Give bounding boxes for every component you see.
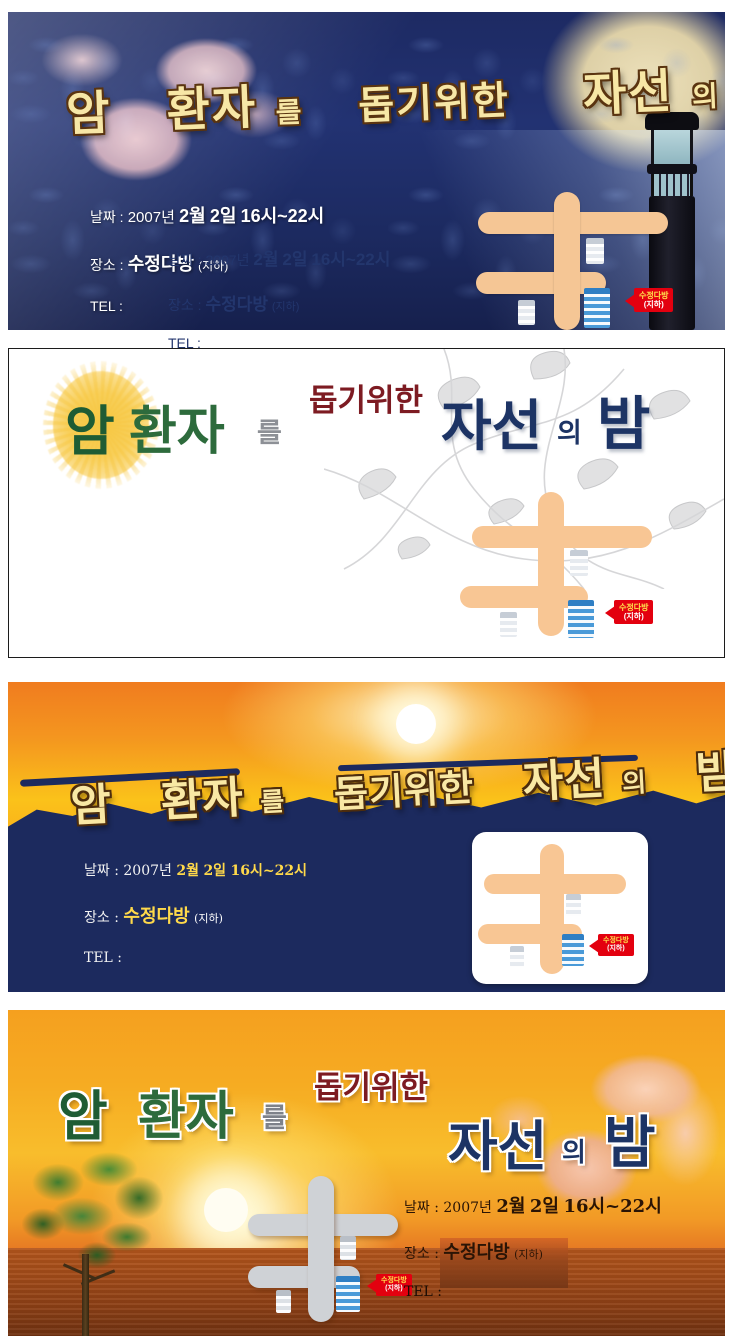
title-word-reul: 를 (262, 1096, 287, 1135)
date-month: 2월 (496, 1196, 525, 1217)
place-label: 장소 : (168, 297, 202, 313)
road-vertical (538, 492, 564, 636)
date-line: 날짜 : 2007년 2월 2일 16시~22시 (168, 245, 390, 270)
title-word-jaseon: 자선 (582, 64, 675, 122)
sun-icon (204, 1188, 248, 1232)
date-line: 날짜 : 2007년 2월 2일 16시~22시 (84, 860, 307, 880)
map-poi-label: 수정다방 (지하) (598, 934, 634, 956)
building-venue (336, 1276, 360, 1312)
date-label: 날짜 : (84, 863, 119, 879)
building-gray-upper (340, 1236, 356, 1260)
banner4-info-block: 날짜 : 2007년 2월 2일 16시~22시 장소 : 수정다방 (지하) … (404, 1192, 662, 1320)
building-gray-upper (570, 550, 588, 576)
title-word-ui: 의 (692, 79, 721, 113)
location-map-1: 수정다방 (지하) (476, 200, 706, 330)
tel-label: TEL : (404, 1284, 442, 1300)
banner-sheet: 암 환자 를 돕기위한 자선 의 밤 날짜 : 2007년 2월 2일 16시~… (0, 0, 733, 1339)
place-sub: (지하) (194, 912, 223, 925)
road-vertical (308, 1176, 334, 1322)
poi-name: 수정다방 (603, 937, 629, 944)
banner3-info-block: 날짜 : 2007년 2월 2일 16시~22시 장소 : 수정다방 (지하) … (84, 860, 307, 988)
date-day: 2일 (203, 863, 226, 879)
date-label: 날짜 : (168, 252, 202, 268)
poi-pointer-icon (589, 939, 599, 953)
place-label: 장소 : (404, 1246, 439, 1262)
road-vertical (540, 844, 564, 974)
title-word-reul: 를 (257, 411, 282, 450)
banner2-title: 암 환자 를 돕기위한 자선 의 밤 (9, 349, 724, 519)
poi-name: 수정다방 (381, 1277, 407, 1284)
tel-line: TEL : (84, 950, 307, 966)
building-venue (568, 600, 594, 638)
place-name: 수정다방 (443, 1242, 509, 1263)
poi-name: 수정다방 (619, 603, 648, 612)
title-word-bam: 밤 (604, 1098, 656, 1179)
title-word-jaseon: 자선 (441, 381, 542, 461)
title-word-hwanja: 환자 (129, 389, 225, 464)
poi-sub: (지하) (639, 300, 668, 309)
poi-sub: (지하) (619, 612, 648, 621)
title-word-bam: 밤 (597, 377, 650, 461)
place-sub: (지하) (514, 1248, 543, 1261)
poi-pointer-icon (625, 294, 635, 308)
building-venue (584, 288, 610, 328)
place-line: 장소 : 수정다방 (지하) (84, 902, 307, 928)
building-gray-upper (566, 894, 581, 916)
location-map-3: 수정다방 (지하) (478, 842, 644, 976)
title-word-dopgiwihan: 돕기위한 (358, 78, 511, 129)
title-word-bam: 밤 (694, 746, 725, 799)
tel-line: TEL : (168, 335, 390, 351)
map-poi-label: 수정다방 (지하) (614, 600, 653, 624)
tel-label: TEL : (168, 335, 201, 351)
title-word-am: 암 (58, 1072, 108, 1151)
date-year: 2007년 (123, 863, 172, 879)
location-map-4: 수정다방 (지하) (248, 1178, 428, 1318)
poi-sub: (지하) (381, 1285, 407, 1293)
date-day: 2일 (530, 1196, 559, 1217)
date-month: 2월 (179, 206, 206, 226)
poi-pointer-icon (367, 1279, 377, 1293)
date-time: 16시~22시 (311, 250, 390, 269)
location-map-2: 수정다방 (지하) (460, 500, 680, 630)
title-word-dopgiwihan: 돕기위한 (314, 1062, 428, 1107)
date-line: 날짜 : 2007년 2월 2일 16시~22시 (90, 202, 324, 228)
title-word-am: 암 (69, 779, 113, 832)
poi-sub: (지하) (603, 945, 629, 953)
map-poi-label: 수정다방 (지하) (634, 288, 673, 312)
building-gray-lower (518, 300, 535, 325)
date-day: 2일 (282, 250, 307, 269)
banner2-info-block: 날짜 : 2007년 2월 2일 16시~22시 장소 : 수정다방 (지하) … (168, 245, 390, 371)
place-sub: (지하) (272, 301, 300, 313)
poi-name: 수정다방 (639, 291, 668, 300)
building-gray-upper (586, 238, 604, 264)
road-vertical (554, 192, 580, 330)
date-year: 2007년 (205, 252, 249, 268)
title-word-ui: 의 (622, 768, 648, 799)
title-word-reul: 를 (275, 95, 304, 129)
place-line: 장소 : 수정다방 (지하) (168, 290, 390, 315)
date-month: 2월 (253, 250, 278, 269)
place-label: 장소 : (90, 257, 124, 273)
date-label: 날짜 : (90, 209, 124, 225)
place-line: 장소 : 수정다방 (지하) (404, 1238, 662, 1264)
place-name: 수정다방 (123, 906, 189, 927)
building-gray-lower (500, 612, 517, 637)
date-line: 날짜 : 2007년 2월 2일 16시~22시 (404, 1192, 662, 1218)
title-word-ui: 의 (562, 1132, 586, 1169)
date-time: 16시~22시 (231, 863, 307, 879)
title-word-am: 암 (65, 86, 112, 143)
date-time: 16시~22시 (241, 206, 325, 226)
title-word-reul: 를 (260, 787, 286, 818)
title-word-am: 암 (65, 387, 115, 466)
building-venue (562, 934, 584, 966)
tel-line: TEL : (404, 1284, 662, 1300)
title-word-hwanja: 환자 (138, 1074, 234, 1149)
place-name: 수정다방 (205, 295, 268, 314)
title-word-jaseon: 자선 (448, 1102, 547, 1181)
title-word-dopgiwihan: 돕기위한 (333, 766, 475, 816)
banner4-title: 암 환자 를 돕기위한 자선 의 밤 (0, 1040, 733, 1180)
tel-label: TEL : (84, 950, 122, 966)
building-gray-lower (510, 946, 524, 967)
place-label: 장소 : (84, 910, 119, 926)
sun-icon (396, 704, 436, 744)
date-label: 날짜 : (404, 1200, 439, 1216)
poi-pointer-icon (605, 606, 615, 620)
date-year: 2007년 (128, 209, 175, 226)
title-word-hwanja: 환자 (166, 80, 259, 138)
date-year: 2007년 (443, 1200, 492, 1216)
tel-label: TEL : (90, 298, 123, 314)
title-word-jaseon: 자선 (522, 753, 608, 808)
date-time: 16시~22시 (563, 1196, 661, 1217)
building-gray-lower (276, 1290, 291, 1313)
title-word-dopgiwihan: 돕기위한 (309, 375, 423, 420)
date-day: 2일 (210, 206, 237, 226)
title-word-hwanja: 환자 (160, 772, 246, 827)
title-word-ui: 의 (557, 411, 582, 450)
date-month: 2월 (176, 863, 199, 879)
